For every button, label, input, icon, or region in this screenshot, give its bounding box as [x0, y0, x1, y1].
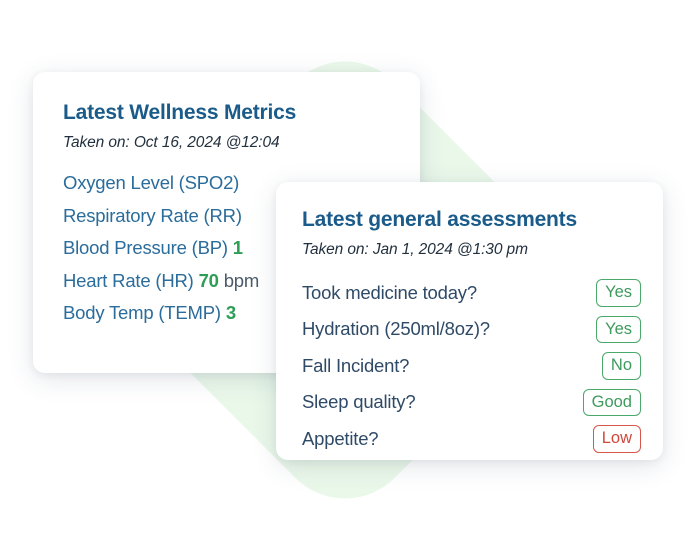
metric-label: Heart Rate (HR): [63, 270, 194, 291]
metric-label: Body Temp (TEMP): [63, 302, 221, 323]
metric-value: 3: [221, 302, 236, 323]
wellness-card-title: Latest Wellness Metrics: [63, 100, 394, 125]
assessment-row: Appetite?Low: [302, 425, 641, 453]
assessments-card-timestamp: Taken on: Jan 1, 2024 @1:30 pm: [302, 241, 641, 259]
general-assessments-card: Latest general assessments Taken on: Jan…: [276, 182, 663, 460]
assessment-row: Hydration (250ml/8oz)?Yes: [302, 316, 641, 344]
assessment-question: Sleep quality?: [302, 391, 415, 413]
assessment-row-list: Took medicine today?YesHydration (250ml/…: [302, 279, 641, 453]
assessment-row: Sleep quality?Good: [302, 389, 641, 417]
metric-unit: bpm: [219, 270, 259, 291]
metric-value: 70: [194, 270, 219, 291]
wellness-card-timestamp: Taken on: Oct 16, 2024 @12:04: [63, 134, 394, 152]
assessment-row: Took medicine today?Yes: [302, 279, 641, 307]
assessment-answer-badge[interactable]: Good: [583, 389, 641, 417]
assessment-answer-badge[interactable]: Yes: [596, 279, 641, 307]
assessment-question: Hydration (250ml/8oz)?: [302, 318, 490, 340]
assessment-row: Fall Incident?No: [302, 352, 641, 380]
assessments-card-title: Latest general assessments: [302, 207, 641, 232]
metric-label: Blood Pressure (BP): [63, 237, 228, 258]
page-root: Latest Wellness Metrics Taken on: Oct 16…: [0, 0, 697, 549]
assessment-question: Appetite?: [302, 428, 378, 450]
metric-value: 1: [228, 237, 243, 258]
assessment-answer-badge[interactable]: No: [602, 352, 641, 380]
assessment-question: Took medicine today?: [302, 282, 477, 304]
assessment-answer-badge[interactable]: Low: [593, 425, 641, 453]
assessment-question: Fall Incident?: [302, 355, 409, 377]
metric-label: Respiratory Rate (RR): [63, 205, 242, 226]
metric-label: Oxygen Level (SPO2): [63, 172, 239, 193]
assessment-answer-badge[interactable]: Yes: [596, 316, 641, 344]
